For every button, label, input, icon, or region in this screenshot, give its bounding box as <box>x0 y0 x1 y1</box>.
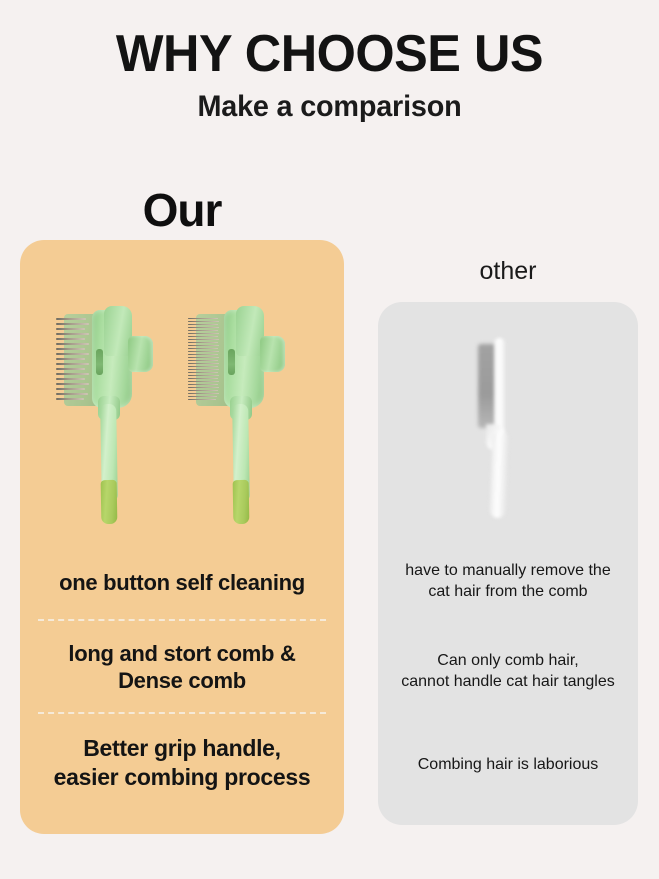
other-card: have to manually remove the cat hair fro… <box>378 302 638 825</box>
feature-separator-1 <box>38 619 326 621</box>
ours-feature-1: one button self cleaning <box>34 570 330 597</box>
comparison-infographic: WHY CHOOSE US Make a comparison Our othe… <box>0 0 659 879</box>
ours-product-images <box>20 302 344 552</box>
other-feature-1: have to manually remove the cat hair fro… <box>378 560 638 602</box>
other-feature-2: Can only comb hair, cannot handle cat ha… <box>378 650 638 692</box>
other-feature-list: have to manually remove the cat hair fro… <box>378 560 638 776</box>
ours-feature-2: long and stort comb & Dense comb <box>34 641 330 695</box>
feature-separator-2 <box>38 712 326 714</box>
ours-feature-3: Better grip handle, easier combing proce… <box>34 734 330 790</box>
comb-pins-dense <box>188 318 222 402</box>
ours-card: one button self cleaning long and stort … <box>20 240 344 834</box>
product-image-plain-white-comb <box>460 336 540 526</box>
self-cleaning-button[interactable] <box>228 349 235 375</box>
header: WHY CHOOSE US Make a comparison <box>0 26 659 124</box>
page-title: WHY CHOOSE US <box>10 26 649 82</box>
other-feature-3: Combing hair is laborious <box>378 754 638 775</box>
self-cleaning-button[interactable] <box>96 349 103 375</box>
comb-pins-wide <box>56 318 90 402</box>
page-subtitle: Make a comparison <box>13 90 646 124</box>
comb-side-knob <box>128 336 153 372</box>
ours-feature-list: one button self cleaning long and stort … <box>34 570 330 791</box>
product-image-long-short-comb <box>46 304 166 544</box>
white-comb-handle <box>490 432 509 519</box>
comb-side-knob <box>260 336 285 372</box>
other-column-heading: other <box>378 257 638 286</box>
ours-column-heading: Our <box>20 183 344 237</box>
comb-grip <box>101 480 118 524</box>
product-image-dense-comb <box>178 304 298 544</box>
comb-grip <box>233 480 250 524</box>
